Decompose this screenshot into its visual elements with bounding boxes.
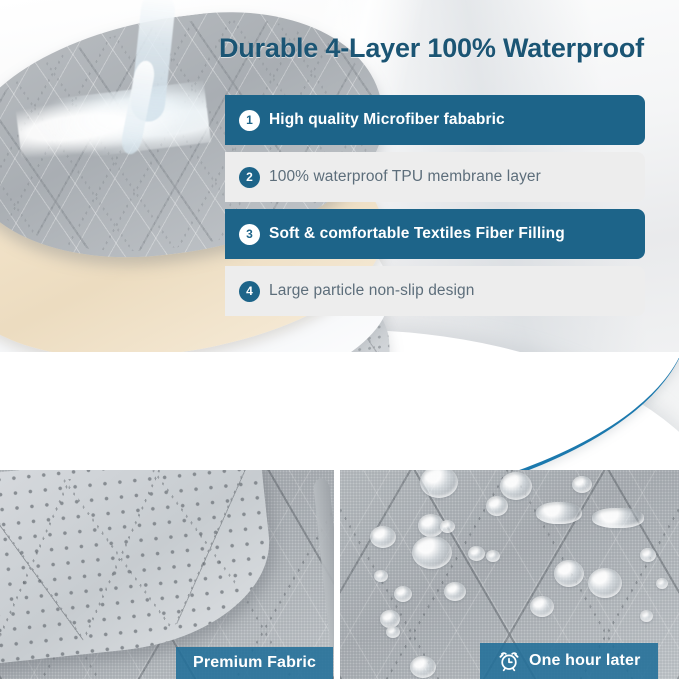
feature-row-2[interactable]: 2 100% waterproof TPU membrane layer — [225, 152, 645, 202]
water-droplet — [486, 496, 508, 516]
water-droplet — [640, 610, 653, 622]
bottom-panels: Premium Fabric — [0, 470, 679, 679]
water-droplet — [588, 568, 622, 598]
feature-row-1[interactable]: 1 High quality Microfiber fababric — [225, 95, 645, 145]
water-droplet — [486, 550, 500, 562]
water-droplet — [530, 596, 554, 617]
feature-label: High quality Microfiber fababric — [269, 111, 505, 129]
water-droplet — [554, 560, 584, 587]
water-droplet — [592, 508, 644, 528]
water-droplet — [572, 476, 592, 493]
feature-row-4[interactable]: 4 Large particle non-slip design — [225, 266, 645, 316]
feature-number-badge: 2 — [239, 167, 260, 188]
water-droplet — [536, 502, 582, 524]
caption-label: One hour later — [529, 652, 640, 670]
water-droplet — [500, 472, 532, 500]
water-droplet — [394, 586, 412, 602]
feature-row-3[interactable]: 3 Soft & comfortable Textiles Fiber Fill… — [225, 209, 645, 259]
feature-label: Large particle non-slip design — [269, 282, 474, 300]
infographic-root: Durable 4-Layer 100% Waterproof 1 High q… — [0, 0, 679, 679]
feature-number-badge: 3 — [239, 224, 260, 245]
panel-premium-fabric: Premium Fabric — [0, 470, 334, 679]
caption-label: Premium Fabric — [193, 654, 316, 672]
alarm-clock-icon — [498, 650, 520, 672]
row-divider — [225, 259, 645, 266]
water-droplet — [386, 626, 400, 638]
feature-callout-panel: 1 High quality Microfiber fababric 2 100… — [225, 95, 645, 316]
water-droplet — [410, 656, 436, 678]
row-divider — [225, 202, 645, 209]
feature-number-badge: 1 — [239, 110, 260, 131]
panel-one-hour-later: One hour later — [340, 470, 679, 679]
water-droplet — [468, 546, 485, 561]
water-droplet — [370, 526, 396, 548]
caption-banner-one-hour-later: One hour later — [480, 643, 658, 679]
water-droplet — [640, 548, 656, 562]
row-divider — [225, 145, 645, 152]
water-droplet — [444, 582, 466, 601]
water-droplet — [412, 536, 452, 569]
caption-banner-premium-fabric: Premium Fabric — [176, 647, 333, 679]
feature-number-badge: 4 — [239, 281, 260, 302]
water-droplet — [374, 570, 388, 582]
feature-label: 100% waterproof TPU membrane layer — [269, 168, 541, 186]
water-droplet — [440, 520, 455, 533]
page-title: Durable 4-Layer 100% Waterproof — [219, 33, 644, 64]
feature-label: Soft & comfortable Textiles Fiber Fillin… — [269, 225, 565, 243]
water-droplet — [656, 578, 668, 589]
